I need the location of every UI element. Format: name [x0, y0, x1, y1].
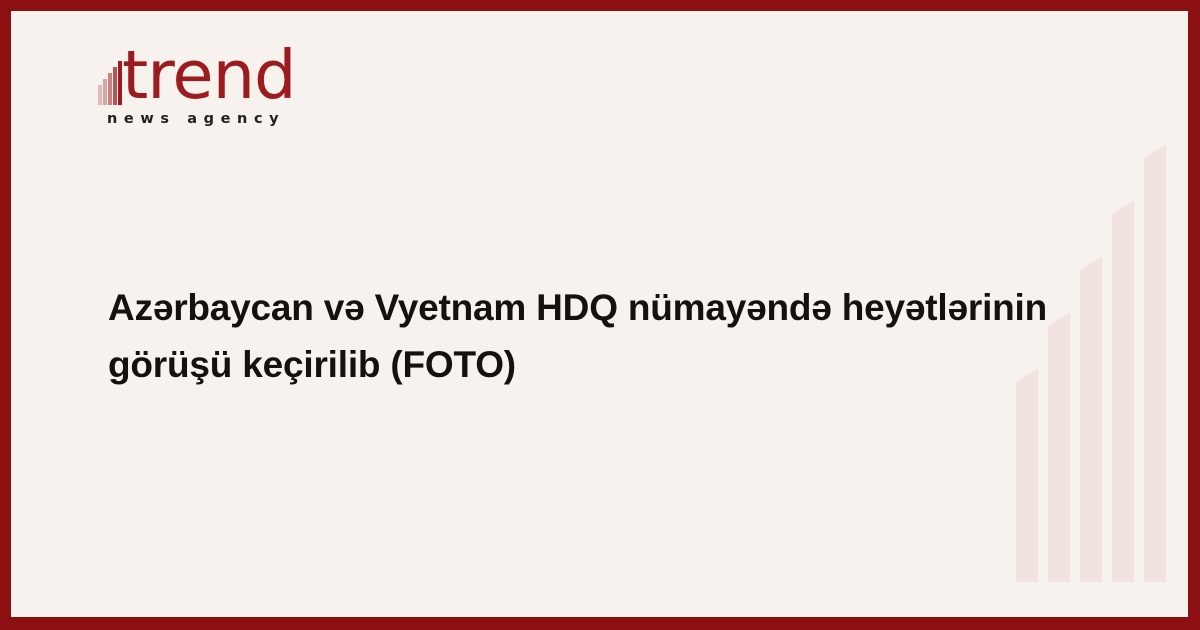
trend-logo[interactable]: trend news agency [98, 46, 328, 141]
watermark-bar [1016, 382, 1038, 582]
watermark-bar [1144, 158, 1166, 582]
headline: Azərbaycan və Vyetnam HDQ nümayəndə heyə… [108, 279, 1083, 393]
logo-bars-icon [98, 57, 124, 105]
logo-tagline: news agency [107, 111, 285, 127]
card-canvas: trend news agency Azərbaycan və Vyetnam … [11, 11, 1188, 617]
logo-bar [108, 73, 112, 105]
logo-bar [113, 67, 117, 105]
logo-wordmark: trend [122, 42, 296, 109]
share-card: trend news agency Azərbaycan və Vyetnam … [0, 0, 1200, 630]
logo-bar [98, 85, 102, 105]
watermark-bar [1080, 270, 1102, 582]
watermark-bar [1112, 214, 1134, 582]
logo-bar [103, 79, 107, 105]
